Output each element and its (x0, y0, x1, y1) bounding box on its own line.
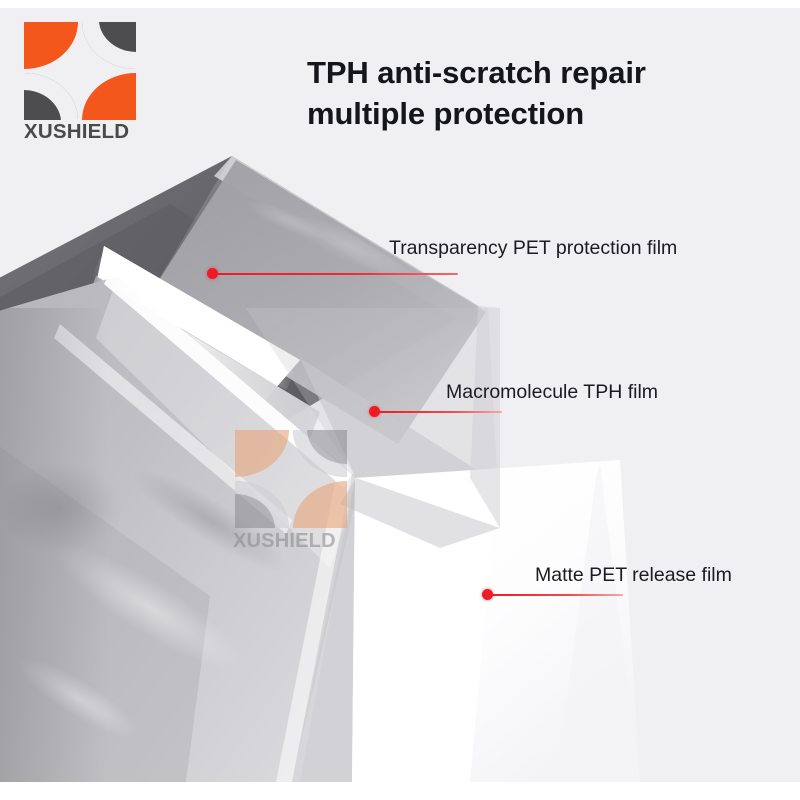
bottom-white-strip (0, 782, 800, 800)
callout-leader-line (491, 594, 623, 596)
xushield-pinwheel-logo-icon (24, 22, 136, 120)
brand-mark (24, 22, 136, 120)
watermark-logo: XUSHIELD (233, 428, 355, 562)
watermark-wordmark: XUSHIELD (233, 531, 355, 551)
top-white-strip (0, 0, 800, 8)
page-title-line-2: multiple protection (307, 93, 777, 134)
callout-leader-line (216, 273, 458, 275)
callout-label: Macromolecule TPH film (446, 383, 658, 403)
callout-label: Transparency PET protection film (389, 239, 677, 259)
brand-logo: XUSHIELD (24, 22, 142, 150)
callout-label: Matte PET release film (535, 566, 732, 586)
brand-wordmark: XUSHIELD (24, 122, 142, 143)
infographic-canvas: XUSHIELD XUSHIELD (0, 0, 800, 800)
callout-leader-line (378, 411, 502, 413)
page-title: TPH anti-scratch repair multiple protect… (307, 52, 777, 134)
page-title-line-1: TPH anti-scratch repair (307, 55, 646, 90)
xushield-pinwheel-watermark-icon (233, 428, 349, 530)
